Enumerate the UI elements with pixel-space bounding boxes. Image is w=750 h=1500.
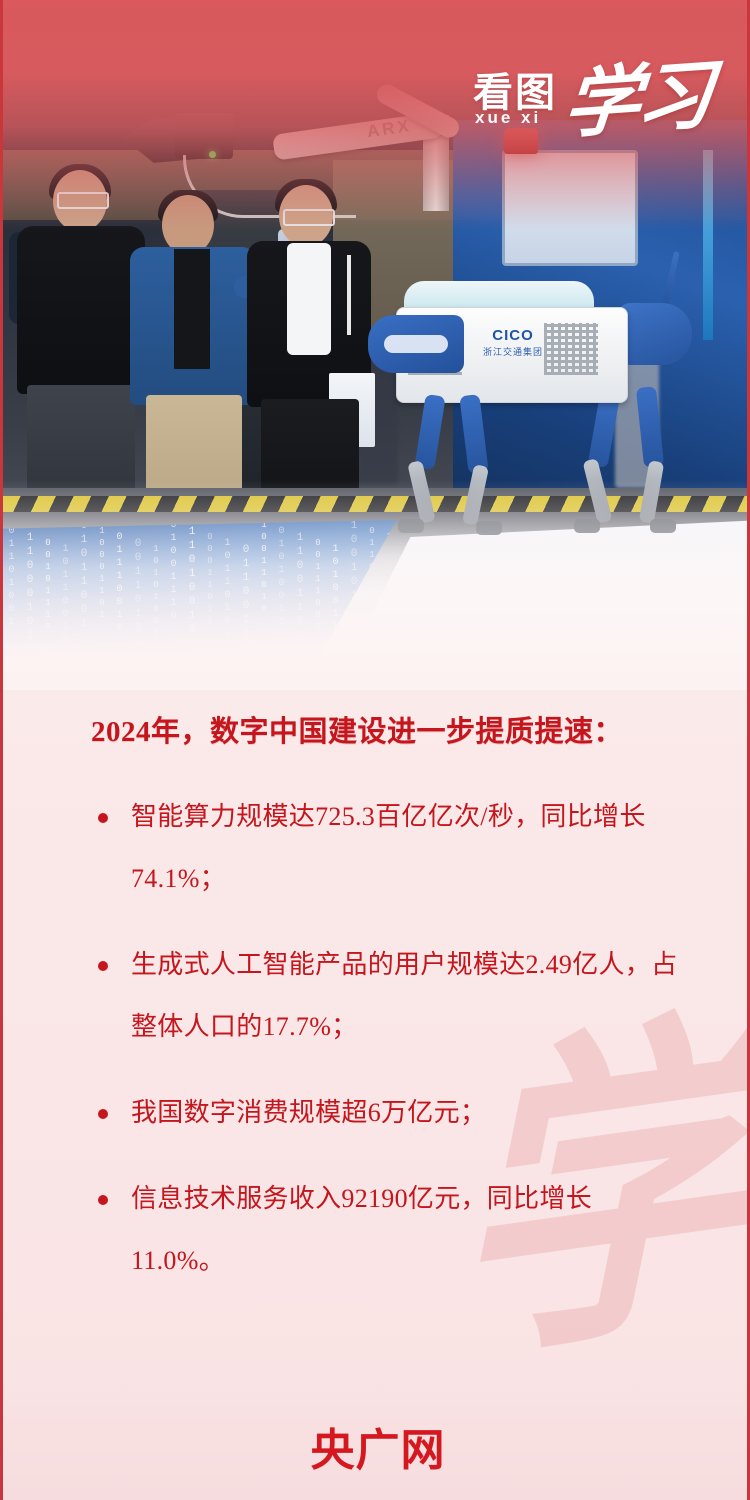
brand-header: 学习 看图 xue xi (449, 42, 709, 150)
brand-script-title: 学习 (560, 33, 715, 153)
content-panel: 2024年，数字中国建设进一步提质提速： 智能算力规模达725.3百亿亿次/秒，… (3, 690, 750, 1380)
list-item: 我国数字消费规模超6万亿元； (91, 1082, 681, 1144)
poster-root: ARX (0, 0, 750, 1500)
robot-dog-brand-en: CICO (458, 327, 568, 344)
robot-dog-head-logo (384, 335, 448, 353)
robot-dog-antenna (662, 251, 680, 307)
robot-dog-leg (459, 394, 488, 474)
list-item: 生成式人工智能产品的用户规模达2.49亿人，占整体人口的17.7%； (91, 934, 681, 1058)
publisher-logo: 央广网 (3, 1414, 750, 1478)
brand-pinyin: xue xi (475, 108, 541, 128)
list-item-text: 智能算力规模达725.3百亿亿次/秒，同比增长74.1%； (131, 802, 646, 893)
robot-dog-brand-cn: 浙江交通集团 (458, 345, 568, 358)
robot-dog-leg (414, 394, 445, 470)
visitor-torso (17, 226, 145, 394)
statistics-bullet-list: 智能算力规模达725.3百亿亿次/秒，同比增长74.1%；生成式人工智能产品的用… (91, 786, 681, 1316)
robot-dog-branding: CICO 浙江交通集团 (458, 327, 568, 358)
list-item: 信息技术服务收入92190亿元，同比增长11.0%。 (91, 1168, 681, 1292)
list-item-text: 我国数字消费规模超6万亿元； (131, 1098, 486, 1127)
robot-dog-leg (636, 386, 664, 468)
bullet-dot-icon (98, 1109, 108, 1119)
list-item-text: 生成式人工智能产品的用户规模达2.49亿人，占整体人口的17.7%； (131, 950, 677, 1041)
hero-bottom-fade (3, 480, 750, 690)
page-title: 2024年，数字中国建设进一步提质提速： (91, 708, 691, 750)
footer: 央广网 (3, 1380, 750, 1500)
visitor-sleeve-stripe (347, 255, 351, 335)
robot-dog-head (368, 315, 464, 373)
bullet-dot-icon (98, 961, 108, 971)
list-item: 智能算力规模达725.3百亿亿次/秒，同比增长74.1%； (91, 786, 681, 910)
visitor-white-tee (287, 243, 331, 355)
visitor-inner-shirt (174, 249, 210, 369)
bullet-dot-icon (98, 1195, 108, 1205)
bullet-dot-icon (98, 813, 108, 823)
list-item-text: 信息技术服务收入92190亿元，同比增长11.0%。 (131, 1184, 592, 1275)
robot-dog-rear-hip (618, 303, 692, 365)
